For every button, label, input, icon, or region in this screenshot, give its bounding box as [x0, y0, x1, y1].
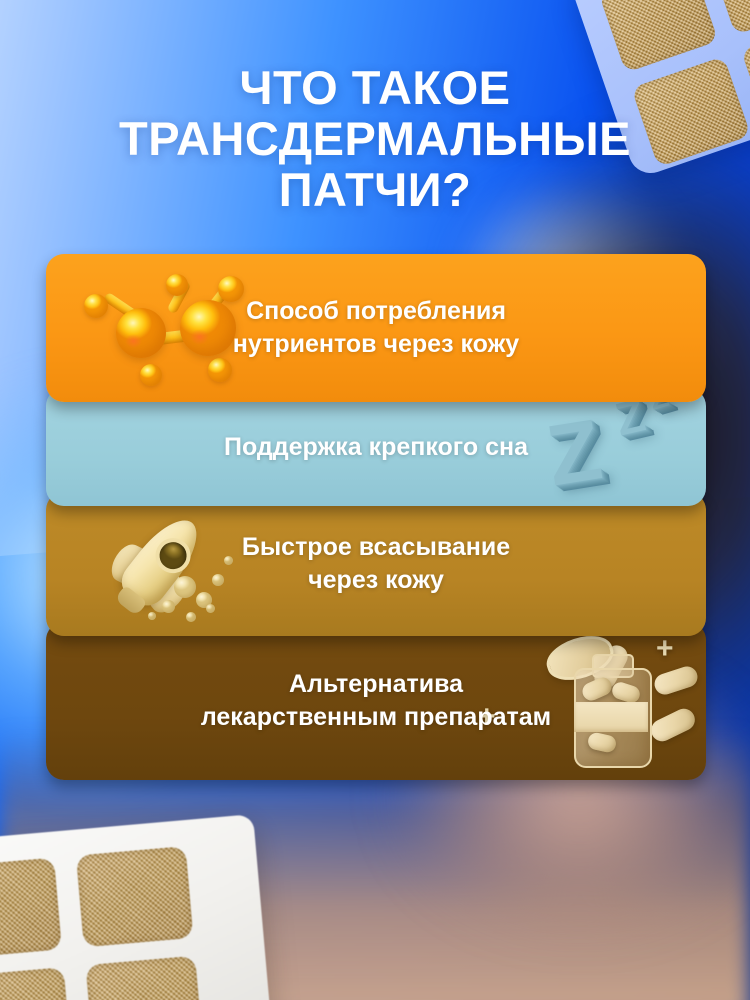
card-text: Способ потребления нутриентов через кожу	[137, 295, 615, 361]
patch-square	[0, 967, 72, 1000]
capsule	[652, 664, 700, 698]
infographic-page: ЧТО ТАКОЕ ТРАНСДЕРМАЛЬНЫЕ ПАТЧИ? Способ …	[0, 0, 750, 1000]
plus-icon-right: +	[656, 634, 674, 664]
page-title-line-1: ЧТО ТАКОЕ	[0, 62, 750, 113]
page-title-line-3: ПАТЧИ?	[0, 164, 750, 215]
patch-square	[85, 956, 203, 1000]
card-text: Альтернатива лекарственным препаратам	[105, 668, 647, 734]
benefit-card-list: Способ потребления нутриентов через кожу…	[46, 254, 706, 780]
capsule	[648, 705, 699, 745]
patch-sheet-bottom-left	[0, 814, 274, 1000]
page-title: ЧТО ТАКОЕ ТРАНСДЕРМАЛЬНЫЕ ПАТЧИ?	[0, 62, 750, 216]
card-text: Поддержка крепкого сна	[128, 431, 624, 464]
card-nutrient-delivery[interactable]: Способ потребления нутриентов через кожу	[46, 254, 706, 402]
card-medication-alternative[interactable]: + + Альтернатива лекарственным препарата…	[46, 622, 706, 780]
patch-square	[76, 846, 194, 947]
patch-square	[0, 858, 62, 959]
card-text: Быстрое всасывание через кожу	[146, 531, 606, 597]
capsule	[587, 731, 618, 753]
page-title-line-2: ТРАНСДЕРМАЛЬНЫЕ	[0, 113, 750, 164]
card-fast-absorption[interactable]: Быстрое всасывание через кожу	[46, 492, 706, 636]
card-sleep-support[interactable]: Z Z Z Поддержка крепкого сна	[46, 388, 706, 506]
